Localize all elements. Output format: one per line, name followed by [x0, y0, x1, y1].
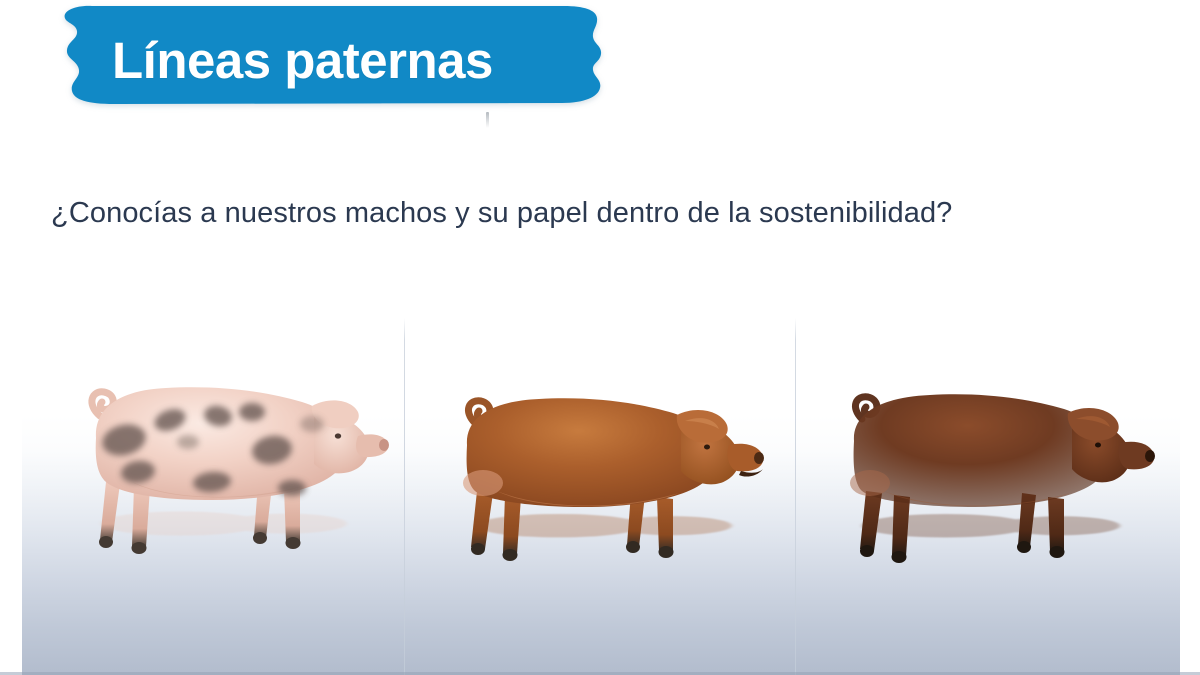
boar-photo-strip: [22, 318, 1180, 675]
page-title: Líneas paternas: [44, 4, 618, 117]
boar-figure-pietrain: [62, 364, 392, 579]
slide: Líneas paternas ¿Conocías a nuestros mac…: [0, 0, 1200, 675]
subtitle-question: ¿Conocías a nuestros machos y su papel d…: [51, 196, 1151, 231]
title-banner: Líneas paternas: [44, 4, 618, 117]
boar-panel-duroc-rojo[interactable]: [405, 318, 794, 675]
banner-tick-mark: [486, 112, 489, 128]
boar-figure-duroc-rojo: [441, 379, 771, 579]
boar-figure-duroc-oscuro: [826, 379, 1161, 579]
boar-panel-pietrain[interactable]: [22, 318, 404, 675]
boar-panel-duroc-oscuro[interactable]: [796, 318, 1180, 675]
